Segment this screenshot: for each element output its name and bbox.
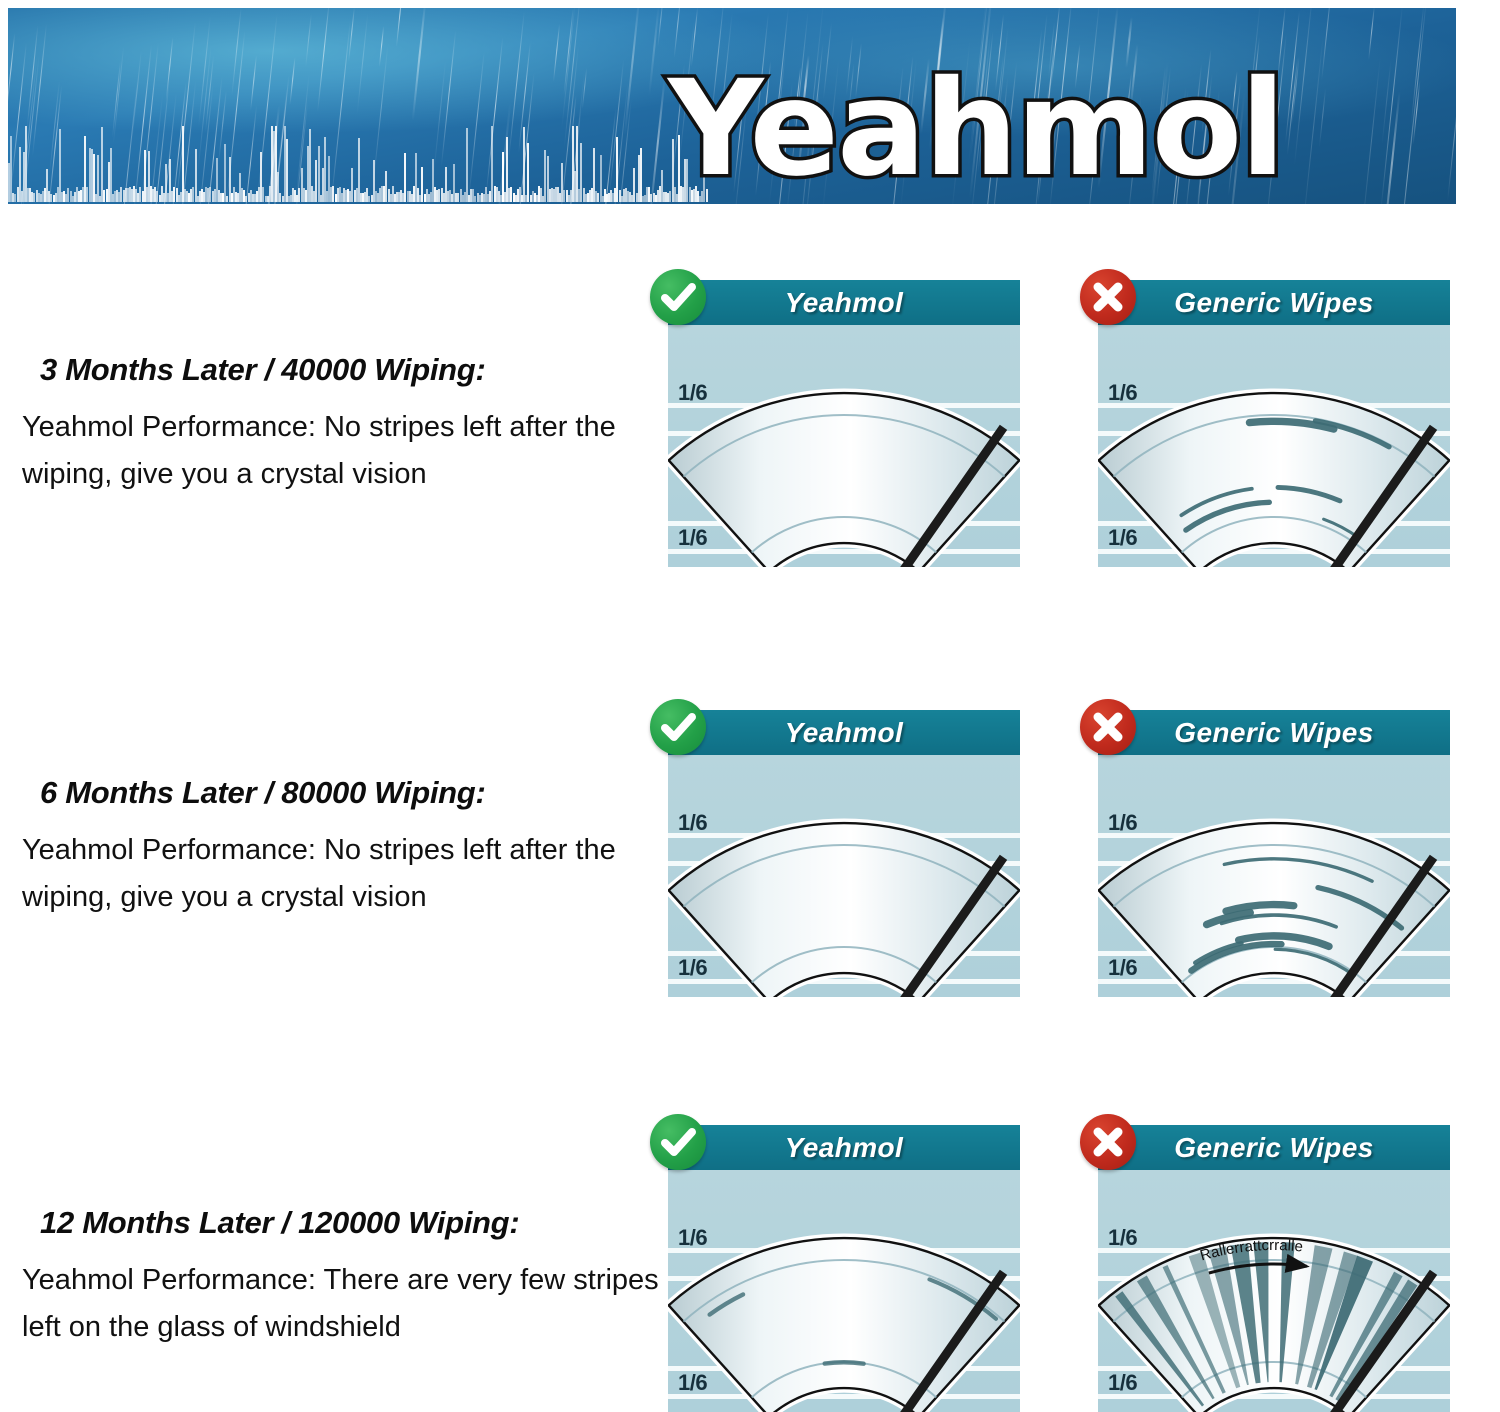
brand-logo: Yeahmol: [668, 60, 1456, 200]
comparison-row: 12 Months Later / 120000 Wiping:Yeahmol …: [0, 1105, 1500, 1405]
panel-body: 1/62/31/6: [668, 755, 1020, 997]
comparison-row: 6 Months Later / 80000 Wiping:Yeahmol Pe…: [0, 690, 1500, 990]
panel-yeahmol: Yeahmol1/62/31/6: [668, 710, 1020, 997]
panel-body: 1/62/31/6: [668, 1170, 1020, 1412]
panel-title: Yeahmol: [668, 1125, 1020, 1170]
panel-title: Generic Wipes: [1098, 710, 1450, 755]
row-text-column: 3 Months Later / 40000 Wiping:Yeahmol Pe…: [22, 352, 672, 498]
comparison-row: 3 Months Later / 40000 Wiping:Yeahmol Pe…: [0, 260, 1500, 560]
waveform-spikes: [8, 126, 708, 202]
cross-icon: [1080, 699, 1136, 755]
panel-header: Yeahmol: [668, 1125, 1020, 1170]
cross-icon: [1080, 1114, 1136, 1170]
check-icon: [650, 699, 706, 755]
check-icon: [650, 1114, 706, 1170]
cross-icon: [1080, 269, 1136, 325]
panel-header: Yeahmol: [668, 280, 1020, 325]
check-icon: [650, 269, 706, 325]
panel-generic-wipes: Generic Wipes1/62/31/6: [1098, 280, 1450, 567]
panel-body: 1/62/31/6Rallerrattcrralle: [1098, 1170, 1450, 1412]
panel-body: 1/62/31/6: [1098, 325, 1450, 567]
panel-header: Generic Wipes: [1098, 710, 1450, 755]
brand-logo-text: Yeahmol: [668, 60, 1284, 198]
row-description: Yeahmol Performance: No stripes left aft…: [22, 827, 672, 921]
row-title: 3 Months Later / 40000 Wiping:: [40, 352, 672, 388]
row-title: 6 Months Later / 80000 Wiping:: [40, 775, 672, 811]
panel-yeahmol: Yeahmol1/62/31/6: [668, 1125, 1020, 1412]
row-title: 12 Months Later / 120000 Wiping:: [40, 1205, 672, 1241]
row-description: Yeahmol Performance: No stripes left aft…: [22, 404, 672, 498]
panel-generic-wipes: Generic Wipes1/62/31/6Rallerrattcrralle: [1098, 1125, 1450, 1412]
panel-title: Yeahmol: [668, 280, 1020, 325]
row-description: Yeahmol Performance: There are very few …: [22, 1257, 672, 1351]
row-text-column: 6 Months Later / 80000 Wiping:Yeahmol Pe…: [22, 775, 672, 921]
panel-title: Generic Wipes: [1098, 1125, 1450, 1170]
panel-title: Yeahmol: [668, 710, 1020, 755]
panel-body: 1/62/31/6: [1098, 755, 1450, 997]
panel-body: 1/62/31/6: [668, 325, 1020, 567]
panel-header: Generic Wipes: [1098, 280, 1450, 325]
panel-title: Generic Wipes: [1098, 280, 1450, 325]
panel-header: Yeahmol: [668, 710, 1020, 755]
row-text-column: 12 Months Later / 120000 Wiping:Yeahmol …: [22, 1205, 672, 1351]
panel-generic-wipes: Generic Wipes1/62/31/6: [1098, 710, 1450, 997]
panel-yeahmol: Yeahmol1/62/31/6: [668, 280, 1020, 567]
panel-header: Generic Wipes: [1098, 1125, 1450, 1170]
header-banner: Yeahmol: [8, 8, 1456, 204]
